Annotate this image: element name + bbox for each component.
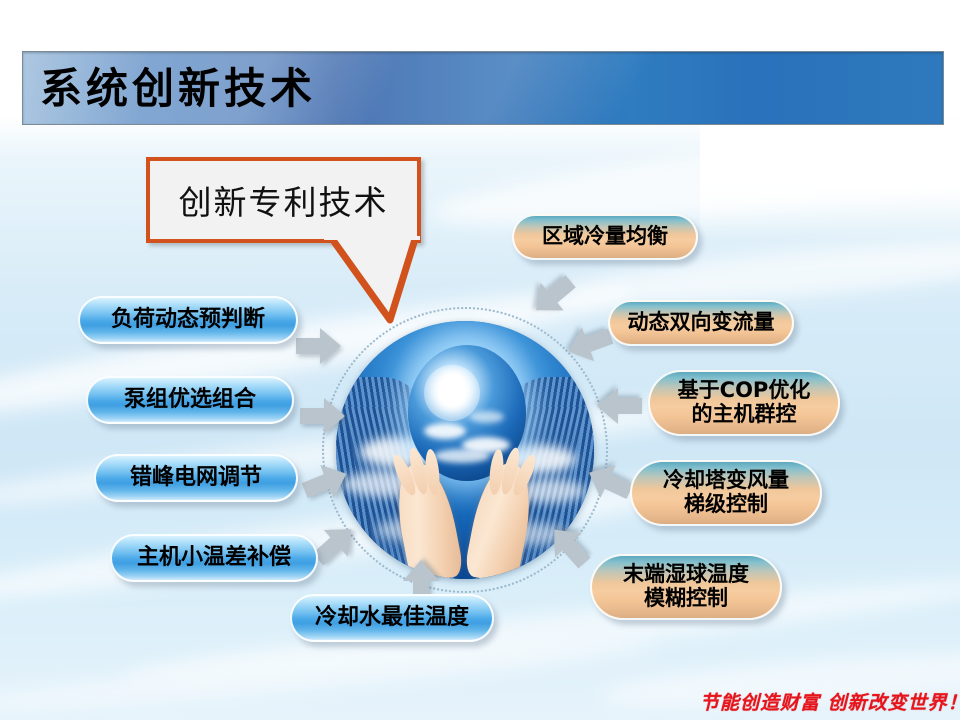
globe-cloud [470,411,504,423]
feature-pill-right-1[interactable]: 区域冷量均衡 [512,214,698,260]
arrow-right-icon [300,396,346,436]
page-title: 系统创新技术 [40,58,640,120]
callout-box: 创新专利技术 [146,157,421,243]
feature-pill-label-line1: 末端湿球温度 [623,563,749,587]
callout-label: 创新专利技术 [150,161,417,239]
sun-flare-icon [424,365,480,421]
slogan-text: 节能创造财富 创新改变世界！ [700,688,950,714]
feature-pill-left-3[interactable]: 错峰电网调节 [94,454,298,502]
feature-pill-label: 区域冷量均衡 [542,225,668,249]
feature-pill-left-5[interactable]: 冷却水最佳温度 [290,594,494,642]
feature-pill-label: 泵组优选组合 [124,388,256,413]
feature-pill-label-line1: 冷却塔变风量 [663,469,789,493]
upper-right-white-area [700,120,960,240]
feature-pill-label: 冷却水最佳温度 [315,606,469,631]
feature-pill-label-line2: 梯级控制 [684,493,768,517]
feature-pill-label: 动态双向变流量 [628,311,775,335]
feature-pill-label: 错峰电网调节 [130,466,262,491]
feature-pill-left-1[interactable]: 负荷动态预判断 [78,296,298,344]
top-white-margin [0,0,960,52]
feature-pill-label: 主机小温差补偿 [137,546,291,571]
feature-pill-left-2[interactable]: 泵组优选组合 [86,376,294,424]
feature-pill-label: 负荷动态预判断 [111,308,265,333]
arrow-left-icon [596,386,642,426]
feature-pill-label-line1: 基于COP优化 [678,379,811,403]
globe-cloud [434,449,490,463]
feature-pill-left-4[interactable]: 主机小温差补偿 [110,534,318,582]
arrow-right-icon [296,326,342,366]
feature-pill-label-line2: 模糊控制 [644,587,728,611]
feature-pill-right-3[interactable]: 基于COP优化 的主机群控 [648,370,840,436]
feature-pill-label-line2: 的主机群控 [692,403,797,427]
feature-pill-right-5[interactable]: 末端湿球温度 模糊控制 [590,554,782,620]
globe-cloud [424,423,466,439]
feature-pill-right-2[interactable]: 动态双向变流量 [608,300,794,346]
feature-pill-right-4[interactable]: 冷却塔变风量 梯级控制 [630,460,822,526]
slide-canvas: 系统创新技术 创新专利技术 [0,0,960,720]
